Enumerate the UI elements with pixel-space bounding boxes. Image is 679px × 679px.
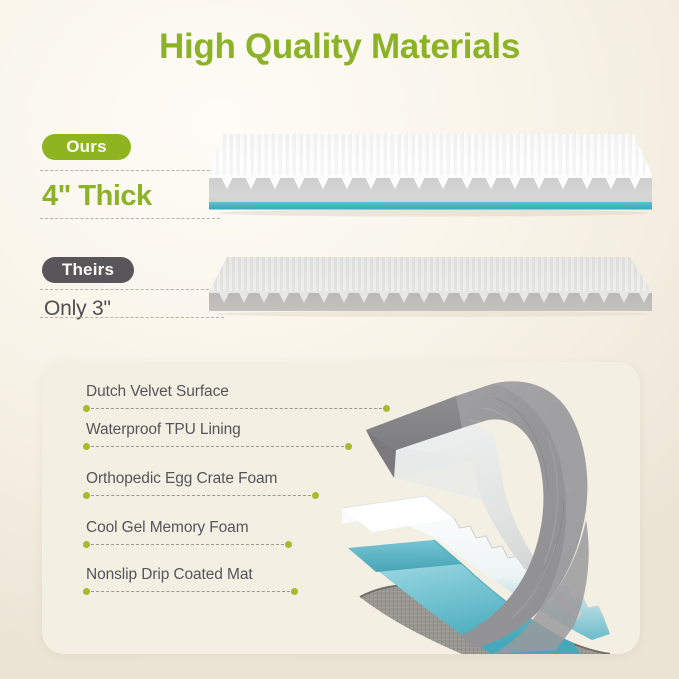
infographic-page: High Quality Materials Ours 4" Thick [0,0,679,679]
layered-cutaway-illustration [342,368,640,654]
badge-ours: Ours [42,134,131,160]
layer-leader-line [86,495,311,496]
layer-leader-line [86,544,284,545]
layer-dot-start [83,541,90,548]
measure-rule-theirs-top [40,289,224,290]
layers-card: Dutch Velvet Surface Waterproof TPU Lini… [42,362,640,654]
mattress-illustration-ours [205,131,652,221]
badge-theirs: Theirs [42,257,134,283]
layer-dot-start [83,443,90,450]
layer-label: Cool Gel Memory Foam [86,519,249,537]
layer-leader-line [86,446,344,447]
layer-dot-end [291,588,298,595]
layer-dot-start [83,588,90,595]
measure-rule-ours-bottom [40,218,220,219]
layer-label: Waterproof TPU Lining [86,421,241,439]
layer-label: Orthopedic Egg Crate Foam [86,470,277,488]
layer-dot-start [83,492,90,499]
measure-rule-theirs-bottom [40,317,224,318]
measure-rule-ours-top [40,170,220,171]
layer-dot-end [285,541,292,548]
layer-dot-end [312,492,319,499]
layer-leader-line [86,408,382,409]
measure-label-ours: 4" Thick [42,180,152,213]
layer-leader-line [86,591,290,592]
layer-label: Dutch Velvet Surface [86,383,229,401]
layer-dot-start [83,405,90,412]
page-title: High Quality Materials [0,27,679,67]
mattress-illustration-theirs [205,254,652,319]
layer-label: Nonslip Drip Coated Mat [86,566,253,584]
